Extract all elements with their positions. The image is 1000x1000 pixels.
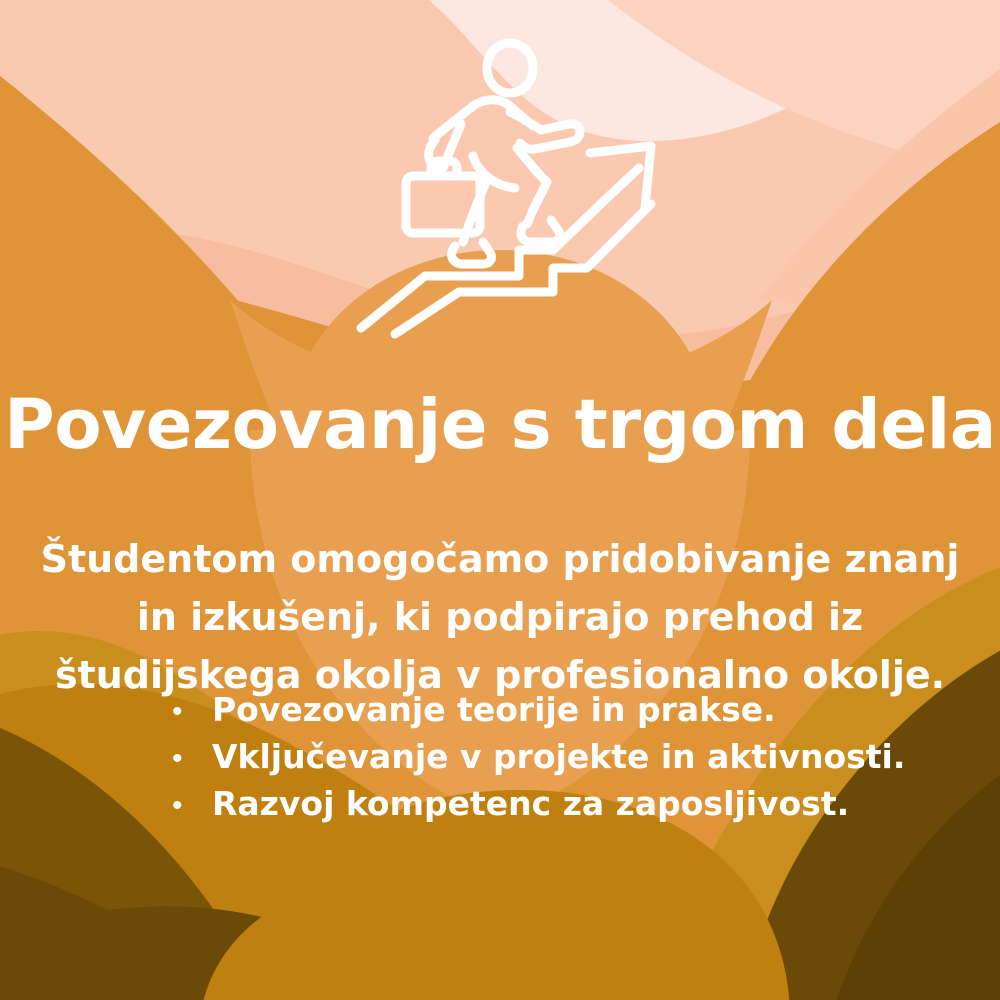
list-item: • Vključevanje v projekte in aktivnosti. xyxy=(0,739,1000,786)
slide-content: Povezovanje s trgom dela Študentom omogo… xyxy=(0,0,1000,1000)
page-title: Povezovanje s trgom dela xyxy=(0,391,1000,460)
list-item-label: Vključevanje v projekte in aktivnosti. xyxy=(212,739,905,775)
list-item: • Razvoj kompetenc za zaposljivost. xyxy=(0,786,1000,833)
figure-front-leg-icon xyxy=(517,148,547,224)
bullet-marker-icon: • xyxy=(172,744,212,774)
list-item-label: Povezovanje teorije in prakse. xyxy=(212,692,776,728)
bullet-marker-icon: • xyxy=(172,791,212,821)
lead-paragraph: Študentom omogočamo pridobivanje znanj i… xyxy=(0,530,1000,704)
infographic-slide: Povezovanje s trgom dela Študentom omogo… xyxy=(0,0,1000,1000)
figure-front-arm-icon xyxy=(510,112,580,149)
figure-head-icon xyxy=(487,43,533,93)
businessperson-climbing-growth-arrow-icon xyxy=(355,28,665,348)
list-item: • Povezovanje teorije in prakse. xyxy=(0,692,1000,739)
figure-back-foot-icon xyxy=(452,242,492,264)
bullet-marker-icon: • xyxy=(172,697,212,727)
list-item-label: Razvoj kompetenc za zaposljivost. xyxy=(212,786,849,822)
key-points-list: • Povezovanje teorije in prakse. • Vklju… xyxy=(0,692,1000,833)
growth-arrow-head-icon xyxy=(590,146,651,208)
